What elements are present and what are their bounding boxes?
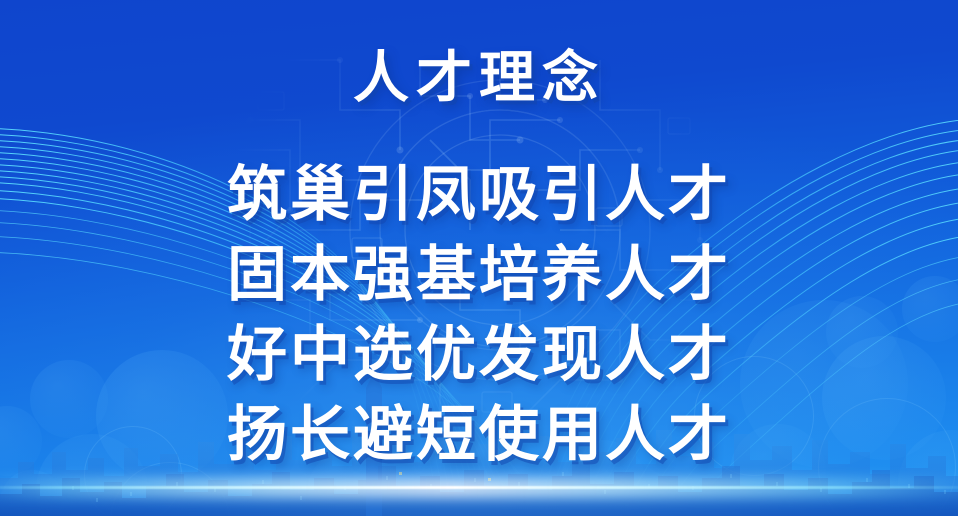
slogan-line: 好中选优发现人才 xyxy=(0,315,958,395)
slogan-list: 筑巢引凤吸引人才 固本强基培养人才 好中选优发现人才 扬长避短使用人才 xyxy=(0,155,958,475)
banner-content: 人才理念 筑巢引凤吸引人才 固本强基培养人才 好中选优发现人才 扬长避短使用人才 xyxy=(0,0,958,516)
page-title: 人才理念 xyxy=(0,50,958,106)
slogan-line: 固本强基培养人才 xyxy=(0,235,958,315)
slogan-line: 筑巢引凤吸引人才 xyxy=(0,155,958,235)
slogan-line: 扬长避短使用人才 xyxy=(0,395,958,475)
talent-philosophy-banner: 人才理念 筑巢引凤吸引人才 固本强基培养人才 好中选优发现人才 扬长避短使用人才 xyxy=(0,0,958,516)
